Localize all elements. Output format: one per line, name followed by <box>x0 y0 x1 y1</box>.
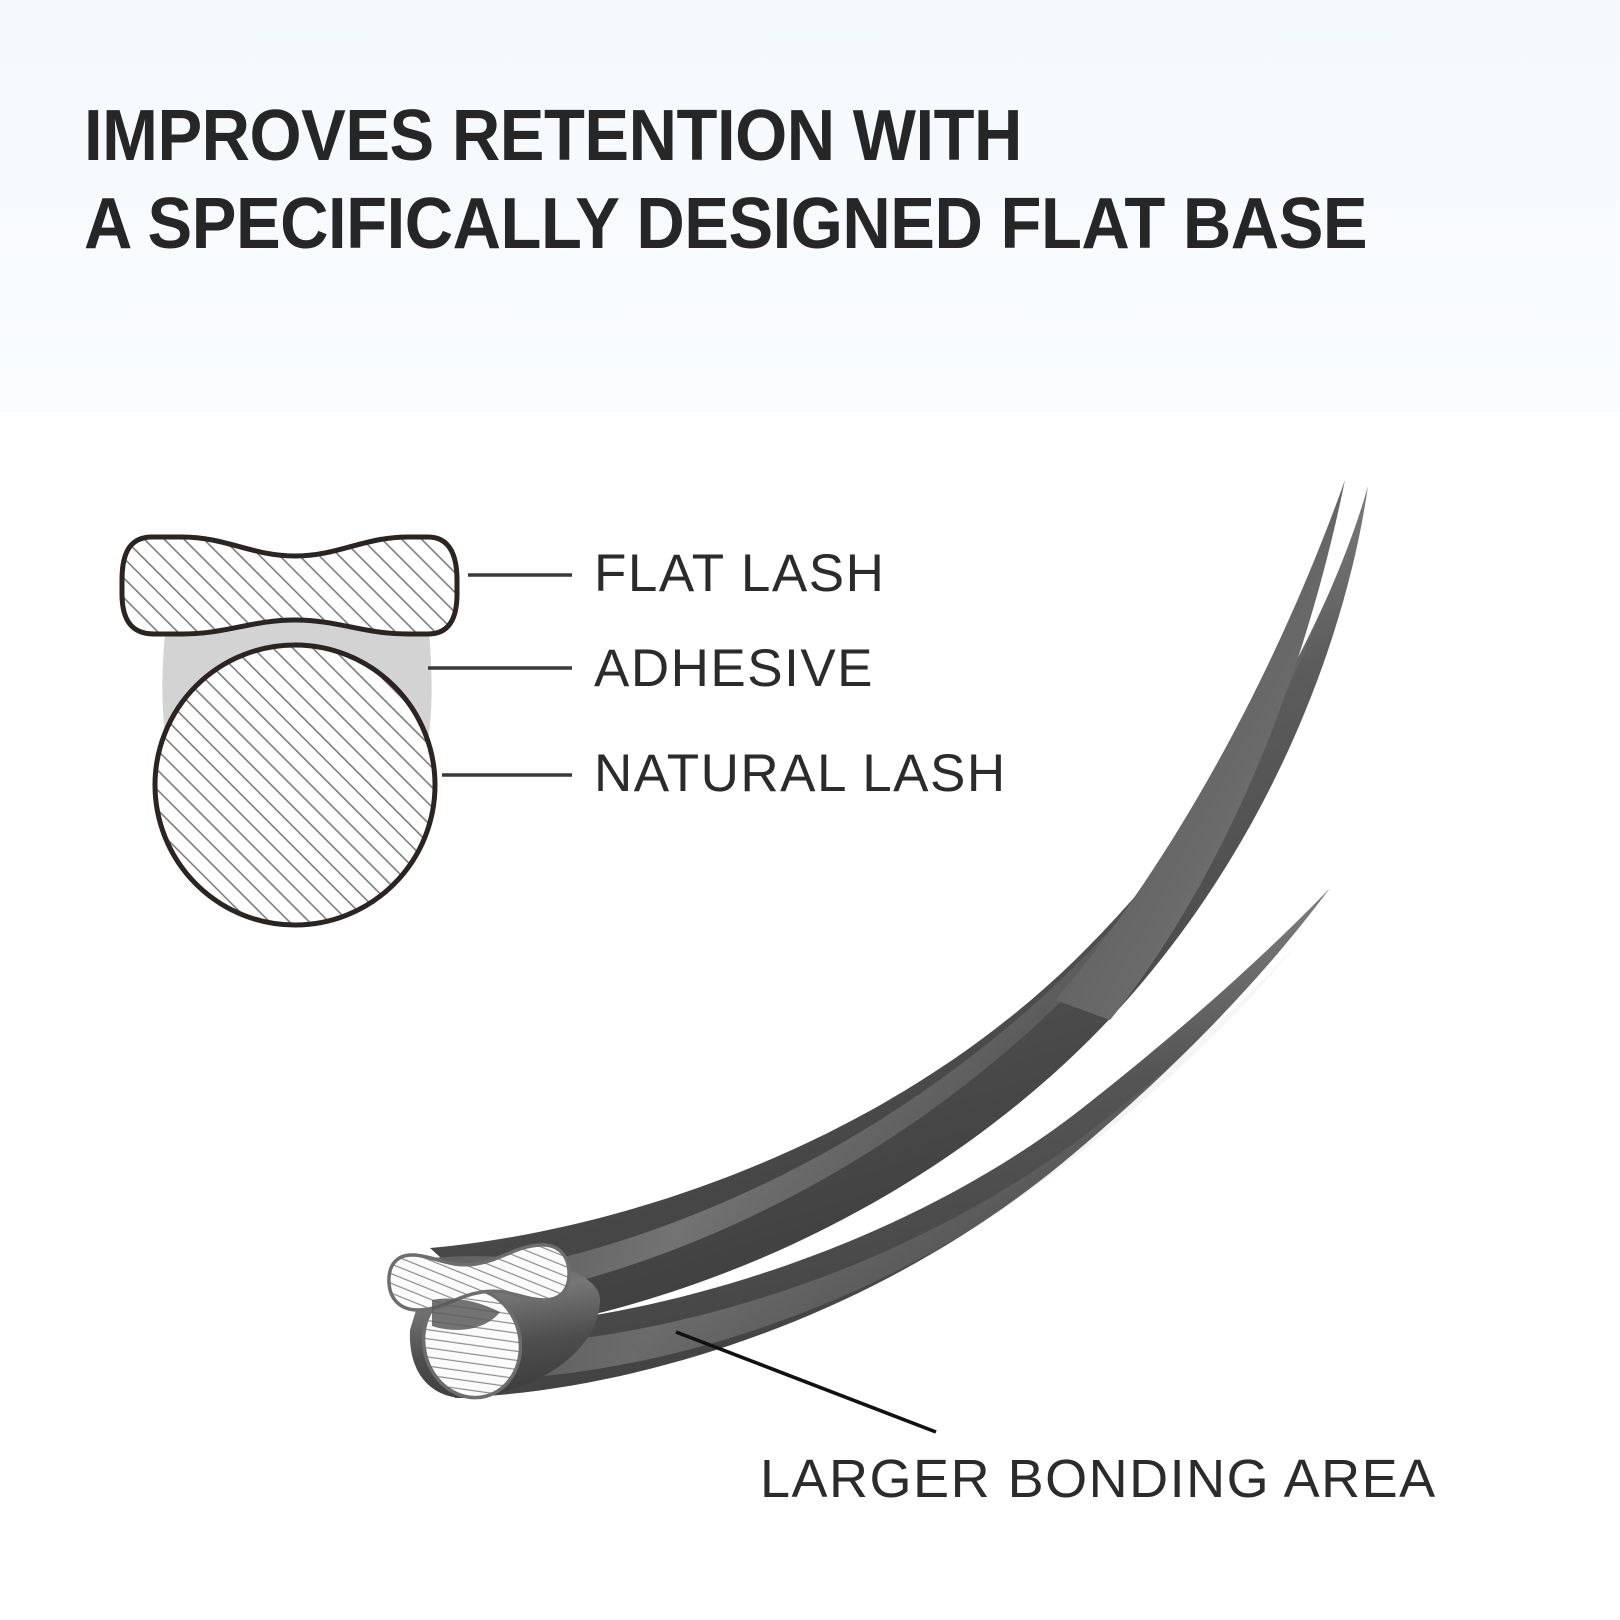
page-title: IMPROVES RETENTION WITH A SPECIFICALLY D… <box>84 92 1544 268</box>
label-flat-lash: FLAT LASH <box>594 543 885 604</box>
label-larger-bonding-area: LARGER BONDING AREA <box>760 1448 1437 1510</box>
flat-lash-shape <box>122 537 457 634</box>
callout-pointer-line <box>676 1332 936 1432</box>
natural-lash-shape <box>155 645 435 925</box>
infographic-page: IMPROVES RETENTION WITH A SPECIFICALLY D… <box>0 0 1620 1620</box>
upper-lash-body <box>430 486 1368 1330</box>
label-natural-lash: NATURAL LASH <box>594 743 1007 804</box>
label-adhesive: ADHESIVE <box>594 638 874 699</box>
cross-section-diagram <box>122 537 572 925</box>
headline-line-1: IMPROVES RETENTION WITH <box>84 92 1442 180</box>
headline-line-2: A SPECIFICALLY DESIGNED FLAT BASE <box>84 180 1442 268</box>
lash-illustration <box>389 480 1368 1432</box>
